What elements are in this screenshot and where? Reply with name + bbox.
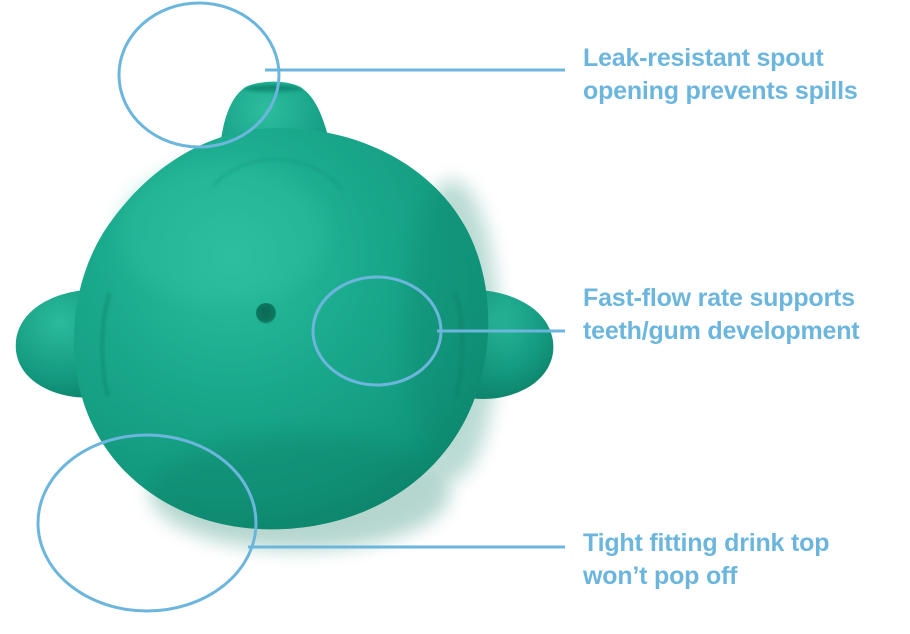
callout-3-line-2: won’t pop off <box>583 560 829 593</box>
callout-1-line-2: opening prevents spills <box>583 75 858 108</box>
callout-1-circle <box>119 3 279 147</box>
callout-3-line-1: Tight fitting drink top <box>583 527 829 560</box>
callout-2-line-1: Fast-flow rate supports <box>583 282 859 315</box>
callout-2-line-2: teeth/gum development <box>583 315 859 348</box>
product-feature-callout-image: Leak-resistant spout opening prevents sp… <box>0 0 910 634</box>
callout-label-tight-fitting-drink-top: Tight fitting drink top won’t pop off <box>583 527 829 594</box>
callout-label-leak-resistant-spout: Leak-resistant spout opening prevents sp… <box>583 42 858 109</box>
body-highlight <box>118 162 326 302</box>
body-bottom-shading <box>150 434 450 550</box>
callout-label-fast-flow-rate: Fast-flow rate supports teeth/gum develo… <box>583 282 859 349</box>
vent-hole-inner-shadow <box>259 310 274 323</box>
callout-1-line-1: Leak-resistant spout <box>583 42 858 75</box>
callout-1-leak-resistant-spout <box>119 3 565 147</box>
product-body-group <box>16 82 554 550</box>
